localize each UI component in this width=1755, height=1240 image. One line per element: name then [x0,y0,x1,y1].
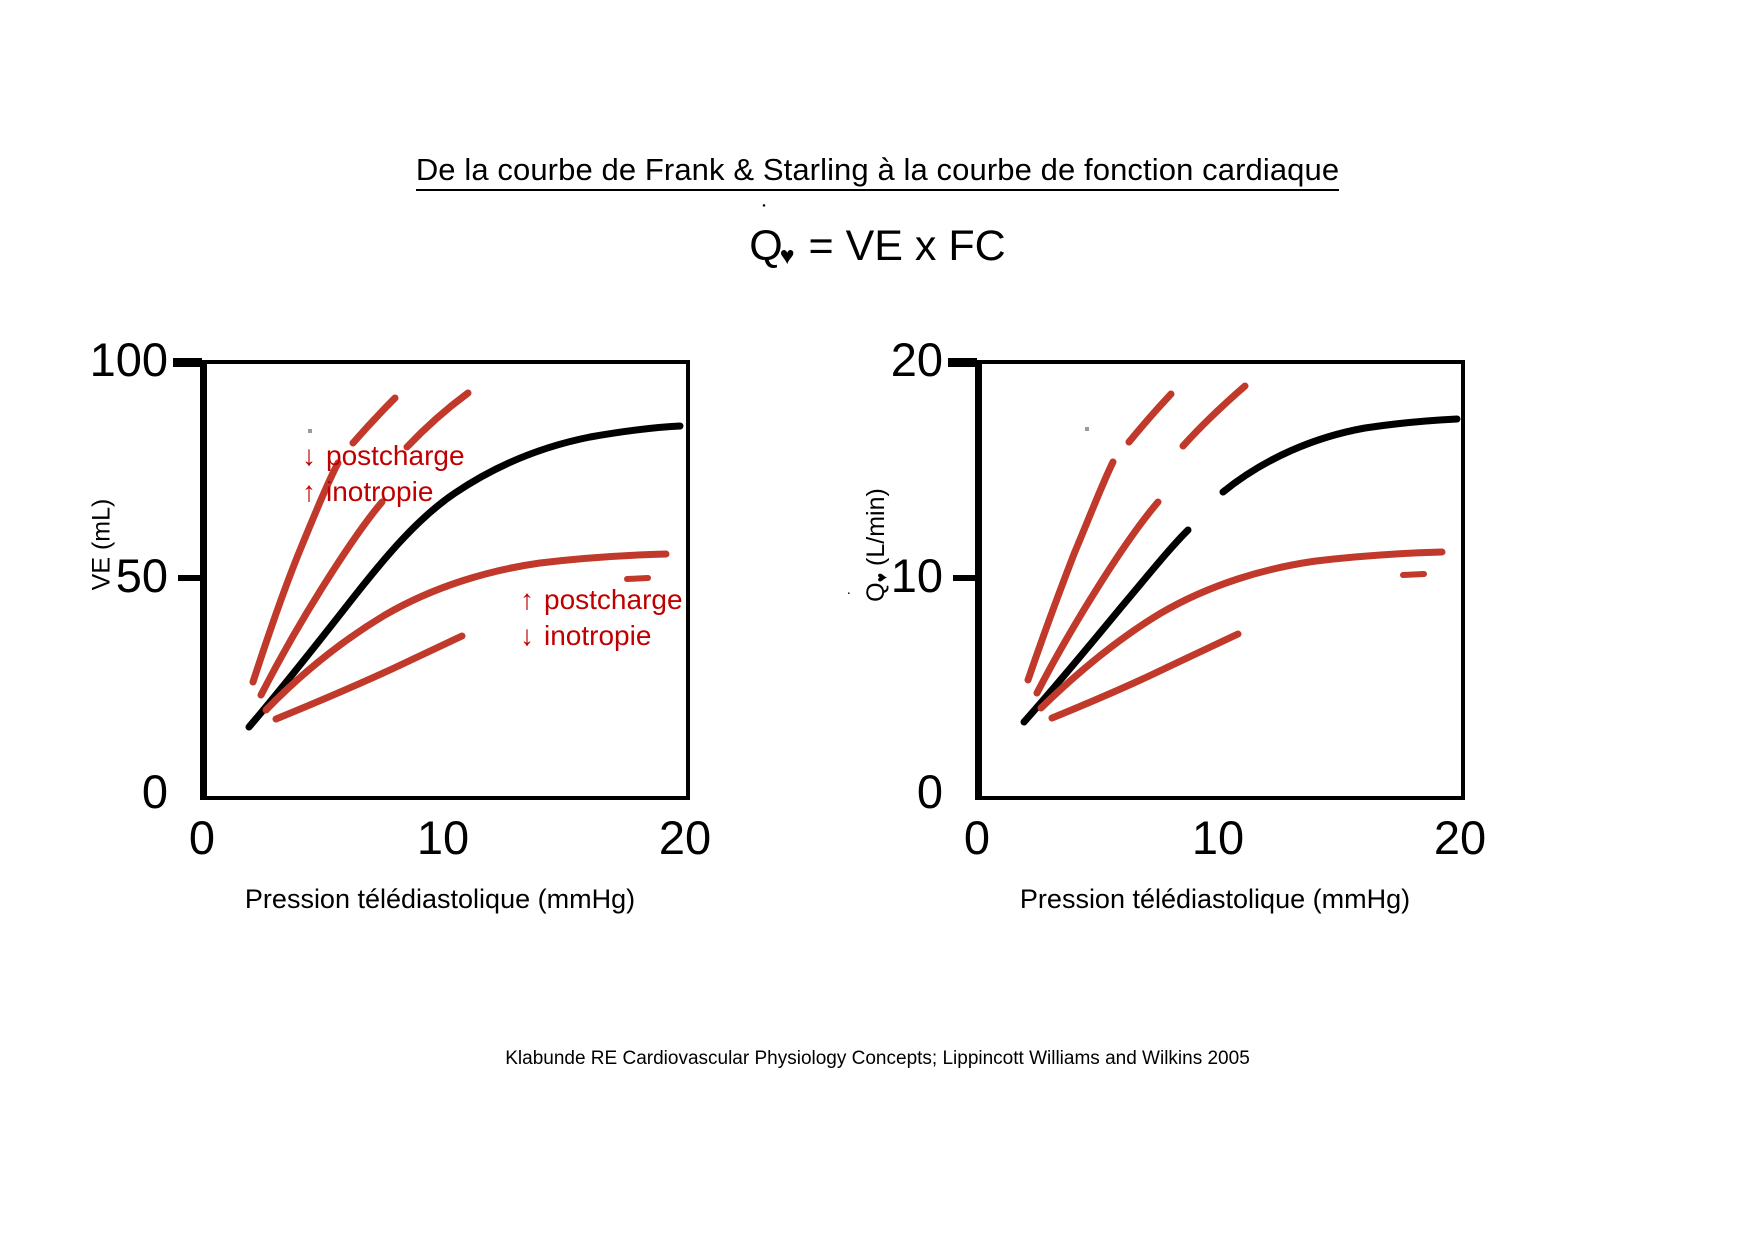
x-tick-label-20: 20 [1425,814,1495,861]
y-tick-label-50: 50 [70,552,168,599]
page-title-text: De la courbe de Frank & Starling à la co… [416,152,1339,191]
q-symbol: ˙ Q [862,582,891,601]
y-tick-mark-top [948,358,977,367]
formula-rest: = VE x FC [809,222,1006,270]
chart-frank-starling: 100 50 0 VE (mL) ↓postcharg [70,330,750,950]
x-tick-label-10: 10 [408,814,478,861]
y-tick-label-0: 0 [70,768,168,815]
annotation-line: ↓inotropie [520,618,683,654]
y-tick-label-20: 20 [845,336,943,383]
annotation-text: postcharge [544,584,683,615]
y-tick-mark-mid [178,575,202,581]
arrow-up-icon: ↑ [520,582,544,618]
heart-icon: ♥ [874,573,891,583]
y-axis-unit: (L/min) [862,488,890,566]
q-letter: Q [749,222,782,270]
plot-area [975,360,1465,800]
speck-dot [308,429,312,433]
annotation-text: inotropie [544,620,651,651]
chart-cardiac-function: 20 10 0 ˙ Q ♥ (L/min) ↓postc [845,330,1525,950]
y-axis-title: ˙ Q ♥ (L/min) [862,445,892,645]
y-tick-label-0: 0 [845,768,943,815]
formula-cardiac-output: ˙ Q ♥ = VE x FC [0,222,1755,271]
x-axis-title: Pression télédiastolique (mmHg) [905,884,1525,915]
y-tick-mark-mid [953,575,977,581]
speck-dot [1085,427,1089,431]
x-axis-title: Pression télédiastolique (mmHg) [130,884,750,915]
annotation-line: ↑inotropie [302,474,465,510]
x-tick-label-20: 20 [650,814,720,861]
plot-area [200,360,690,800]
annotation-decreased-afterload: ↓postcharge ↑inotropie [302,438,465,511]
y-axis-title: VE (mL) [88,445,117,645]
x-tick-label-10: 10 [1183,814,1253,861]
annotation-line: ↑postcharge [520,582,683,618]
arrow-up-icon: ↑ [302,474,326,510]
annotation-text: postcharge [326,440,465,471]
y-tick-mark-top [173,358,202,367]
annotation-text: inotropie [326,476,433,507]
x-tick-label-0: 0 [942,814,1012,861]
annotation-increased-afterload: ↑postcharge ↓inotropie [520,582,683,655]
x-tick-label-0: 0 [167,814,237,861]
annotation-line: ↓postcharge [302,438,465,474]
arrow-down-icon: ↓ [520,618,544,654]
q-symbol: ˙ Q [749,222,782,271]
source-citation: Klabunde RE Cardiovascular Physiology Co… [0,1048,1755,1070]
page-title: De la courbe de Frank & Starling à la co… [0,152,1755,188]
y-tick-label-100: 100 [70,336,168,383]
q-letter: Q [862,582,890,601]
arrow-down-icon: ↓ [302,438,326,474]
